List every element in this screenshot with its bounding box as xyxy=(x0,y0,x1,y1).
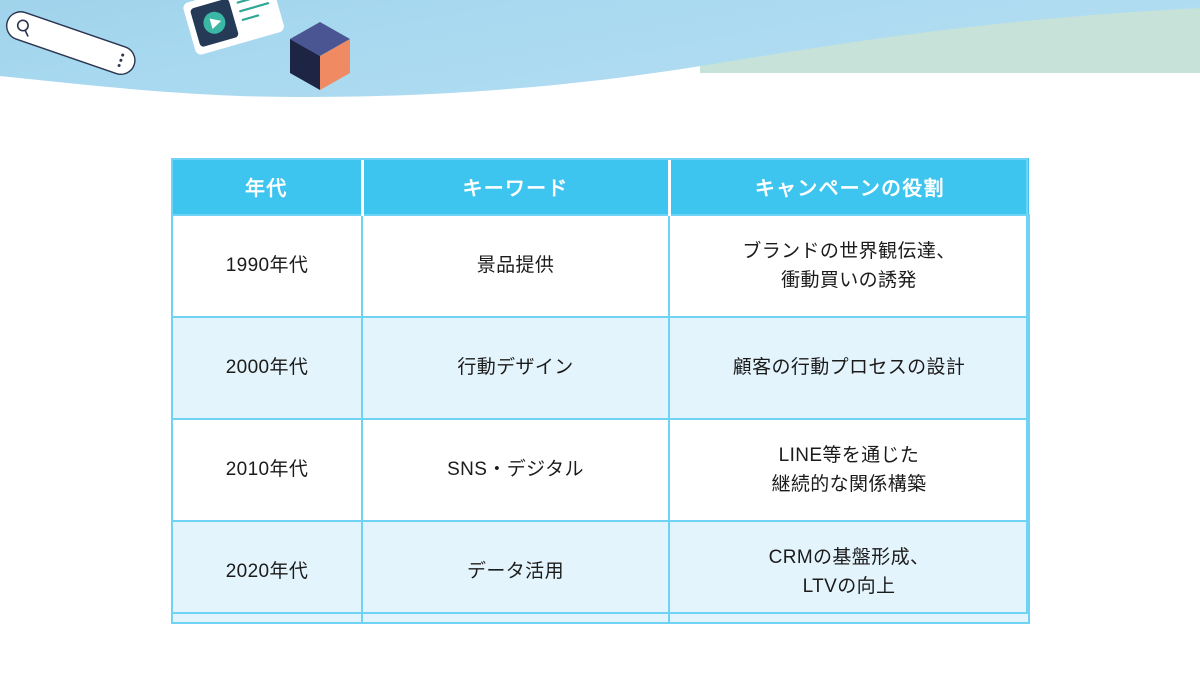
table-row: 1990年代 景品提供 ブランドの世界観伝達、 衝動買いの誘発 xyxy=(172,215,1029,317)
header-decoration xyxy=(0,0,1200,115)
cell-role: 顧客の行動プロセスの設計 xyxy=(669,317,1029,419)
table-row: 2000年代 行動デザイン 顧客の行動プロセスの設計 xyxy=(172,317,1029,419)
cell-keyword: SNS・デジタル xyxy=(362,419,669,521)
cell-keyword: 景品提供 xyxy=(362,215,669,317)
column-header-era: 年代 xyxy=(172,158,362,215)
table-row: 2010年代 SNS・デジタル LINE等を通じた 継続的な関係構築 xyxy=(172,419,1029,521)
table-header-row: 年代 キーワード キャンペーンの役割 xyxy=(172,158,1029,215)
table-row: 2020年代 データ活用 CRMの基盤形成、 LTVの向上 xyxy=(172,521,1029,623)
cell-role-line: CRMの基盤形成、 xyxy=(678,543,1020,572)
cell-role: CRMの基盤形成、 LTVの向上 xyxy=(669,521,1029,623)
column-header-keyword: キーワード xyxy=(362,158,669,215)
cell-role: LINE等を通じた 継続的な関係構築 xyxy=(669,419,1029,521)
cell-keyword: データ活用 xyxy=(362,521,669,623)
cell-keyword: 行動デザイン xyxy=(362,317,669,419)
cell-era: 2000年代 xyxy=(172,317,362,419)
cell-role-line: 継続的な関係構築 xyxy=(678,470,1020,499)
cell-role-line: LINE等を通じた xyxy=(678,441,1020,470)
cell-role-line: LTVの向上 xyxy=(678,572,1020,601)
cell-era: 2020年代 xyxy=(172,521,362,623)
cell-role-line: ブランドの世界観伝達、 xyxy=(678,237,1020,266)
cell-era: 1990年代 xyxy=(172,215,362,317)
era-comparison-table: 年代 キーワード キャンペーンの役割 1990年代 景品提供 ブランドの世界観伝… xyxy=(171,158,1028,624)
cell-era: 2010年代 xyxy=(172,419,362,521)
cell-role: ブランドの世界観伝達、 衝動買いの誘発 xyxy=(669,215,1029,317)
cell-role-line: 顧客の行動プロセスの設計 xyxy=(678,353,1020,382)
column-header-role: キャンペーンの役割 xyxy=(669,158,1029,215)
cell-role-line: 衝動買いの誘発 xyxy=(678,266,1020,295)
